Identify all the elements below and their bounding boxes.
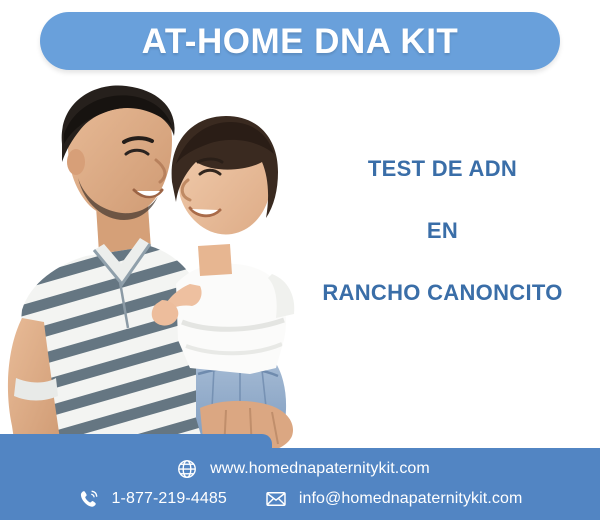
footer-row-contact: 1-877-219-4485 info@homednapaternitykit.… — [0, 488, 600, 510]
footer-phone-label: 1-877-219-4485 — [112, 491, 227, 507]
footer-phone[interactable]: 1-877-219-4485 — [78, 488, 227, 510]
envelope-icon — [265, 488, 287, 510]
globe-icon — [176, 458, 198, 480]
headline-line-1: TEST DE ADN — [300, 158, 585, 180]
footer-contact-rows: www.homednapaternitykit.com 1-877-219-44… — [0, 434, 600, 520]
footer-email-label: info@homednapaternitykit.com — [299, 491, 523, 507]
hero-photo — [0, 78, 320, 453]
footer-website[interactable]: www.homednapaternitykit.com — [176, 458, 430, 480]
header-banner: AT-HOME DNA KIT — [40, 12, 560, 70]
footer-bar: www.homednapaternitykit.com 1-877-219-44… — [0, 434, 600, 520]
poster-root: AT-HOME DNA KIT — [0, 0, 600, 520]
headline-line-3: RANCHO CANONCITO — [300, 282, 585, 304]
phone-icon — [78, 488, 100, 510]
footer-email[interactable]: info@homednapaternitykit.com — [265, 488, 523, 510]
page-title: AT-HOME DNA KIT — [142, 24, 459, 59]
footer-row-website: www.homednapaternitykit.com — [0, 458, 600, 480]
footer-website-label: www.homednapaternitykit.com — [210, 461, 430, 477]
headline-line-2: EN — [300, 220, 585, 242]
headline-block: TEST DE ADN EN RANCHO CANONCITO — [300, 158, 585, 304]
